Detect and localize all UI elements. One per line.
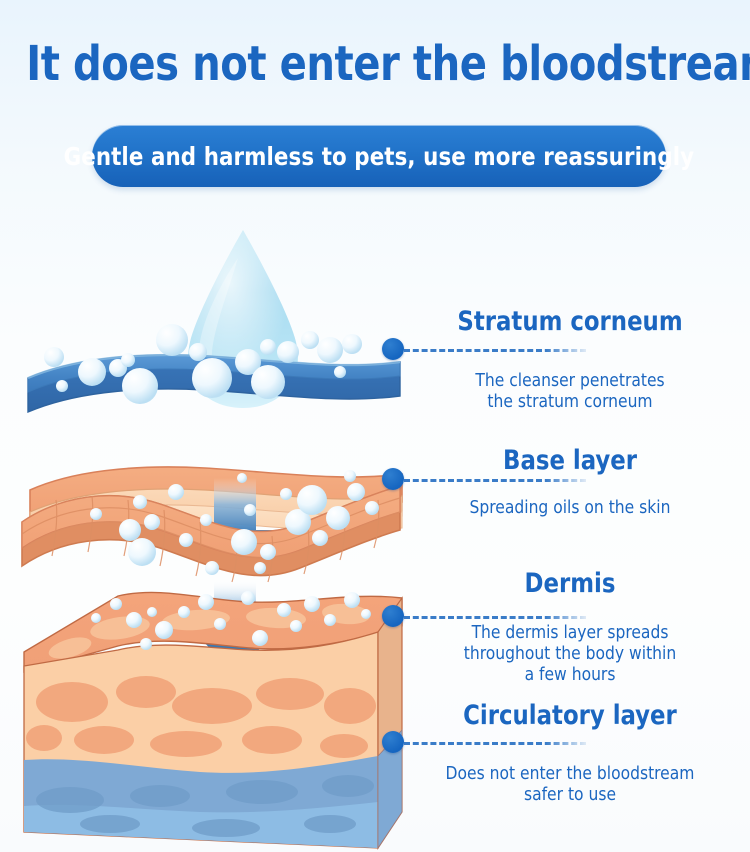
dermis-block — [24, 592, 402, 848]
callout-body-line: the stratum corneum — [426, 391, 714, 412]
subtitle-pill: Gentle and harmless to pets, use more re… — [92, 125, 666, 187]
callout-heading-base-layer: Base layer — [429, 445, 711, 476]
callout-dot-circulatory-layer[interactable] — [382, 731, 404, 753]
callout-body-circulatory-layer: Does not enter the bloodstream safer to … — [421, 763, 719, 805]
callout-heading-dermis: Dermis — [429, 568, 711, 599]
callout-body-line: Spreading oils on the skin — [426, 497, 714, 518]
callout-heading-circulatory-layer: Circulatory layer — [429, 700, 711, 731]
callout-body-line: The cleanser penetrates — [426, 370, 714, 391]
callout-dash-base-layer — [404, 479, 586, 482]
skin-layers-svg — [0, 200, 430, 850]
callout-body-line: a few hours — [426, 664, 714, 685]
skin-layers-illustration — [0, 200, 430, 850]
subtitle-pill-label: Gentle and harmless to pets, use more re… — [64, 142, 695, 171]
callout-body-line: throughout the body within — [426, 643, 714, 664]
callout-dot-base-layer[interactable] — [382, 468, 404, 490]
callout-body-base-layer: Spreading oils on the skin — [426, 497, 714, 518]
callout-body-line: Does not enter the bloodstream — [421, 763, 719, 784]
dermis-front-face — [24, 632, 378, 848]
callout-heading-stratum-corneum: Stratum corneum — [429, 306, 711, 337]
infographic-page: It does not enter the bloodstream Gentle… — [0, 0, 750, 852]
callout-body-line: The dermis layer spreads — [426, 622, 714, 643]
callout-dot-dermis[interactable] — [382, 605, 404, 627]
callout-dash-stratum-corneum — [404, 349, 586, 352]
callout-dot-stratum-corneum[interactable] — [382, 338, 404, 360]
callout-body-line: safer to use — [421, 784, 719, 805]
callout-body-stratum-corneum: The cleanser penetrates the stratum corn… — [426, 370, 714, 412]
callout-dash-circulatory-layer — [404, 742, 586, 745]
callout-dash-dermis — [404, 616, 586, 619]
callout-body-dermis: The dermis layer spreads throughout the … — [426, 622, 714, 685]
page-title: It does not enter the bloodstream — [26, 36, 724, 92]
